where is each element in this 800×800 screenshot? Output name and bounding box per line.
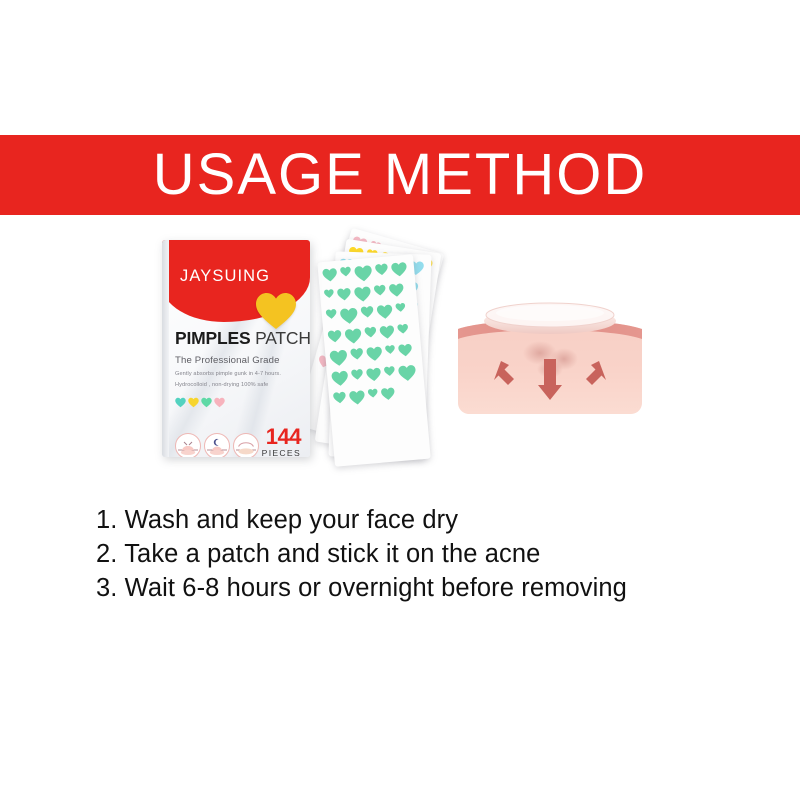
- skin-cross-section-with-patch: [452, 293, 648, 423]
- product-title-strong: PIMPLES: [175, 328, 250, 348]
- pimple-day-icon: [175, 433, 201, 457]
- pimple-night-icon: [204, 433, 230, 457]
- piece-count-block: 144 PIECES: [262, 426, 301, 457]
- step-item: 2. Take a patch and stick it on the acne: [96, 537, 756, 571]
- usage-method-banner: USAGE METHOD: [0, 135, 800, 215]
- product-scene: JAYSUING PIMPLES PATCH The Professional …: [0, 225, 800, 485]
- product-title-light: PATCH: [250, 328, 310, 348]
- brand-logo-text: JAYSUING: [180, 267, 270, 286]
- heart-color-swatches: [175, 397, 302, 408]
- product-package-box: JAYSUING PIMPLES PATCH The Professional …: [162, 240, 310, 457]
- package-text-block: PIMPLES PATCH The Professional Grade Gen…: [175, 330, 302, 408]
- step-item: 1. Wash and keep your face dry: [96, 503, 756, 537]
- product-fine-print-2: Hydrocolloid , non-drying 100% safe: [175, 382, 302, 388]
- green-sheet-hearts: [317, 254, 431, 467]
- step-item: 3. Wait 6-8 hours or overnight before re…: [96, 571, 756, 605]
- package-spine: [162, 240, 169, 457]
- piece-count-label: PIECES: [262, 449, 301, 457]
- product-fine-print-1: Gently absorbs pimple gunk in 4-7 hours.: [175, 371, 302, 377]
- product-title: PIMPLES PATCH: [175, 330, 302, 348]
- piece-count-number: 144: [262, 426, 301, 448]
- instruction-steps: 1. Wash and keep your face dry 2. Take a…: [96, 503, 756, 605]
- pimple-healed-icon: [233, 433, 259, 457]
- banner-title: USAGE METHOD: [153, 146, 648, 204]
- stage-icon-group: [175, 433, 259, 457]
- product-subtitle: The Professional Grade: [175, 355, 302, 366]
- green-heart-sheet: [317, 254, 431, 467]
- package-bottom-row: 144 PIECES: [175, 426, 301, 457]
